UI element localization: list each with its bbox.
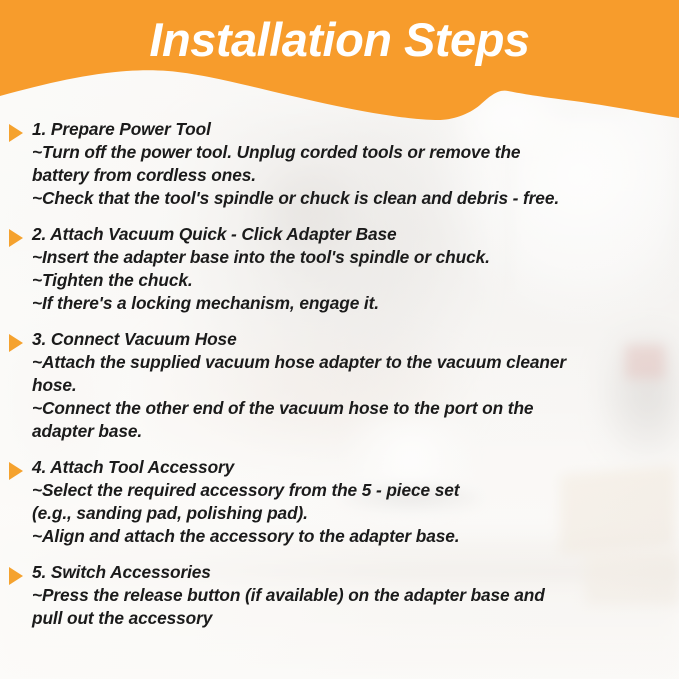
step-body: ~Attach the supplied vacuum hose adapter… [32,351,665,443]
step-title: 2. Attach Vacuum Quick - Click Adapter B… [32,223,665,246]
step-item-5: 5. Switch Accessories ~Press the release… [0,561,679,630]
step-line: ~Tighten the chuck. [32,269,665,292]
step-line: ~Select the required accessory from the … [32,479,665,525]
step-line: ~Connect the other end of the vacuum hos… [32,397,665,443]
step-title: 1. Prepare Power Tool [32,118,665,141]
triangle-right-icon [9,567,23,585]
step-line: ~Insert the adapter base into the tool's… [32,246,665,269]
triangle-right-icon [9,334,23,352]
step-item-1: 1. Prepare Power Tool ~Turn off the powe… [0,118,679,210]
step-title: 3. Connect Vacuum Hose [32,328,665,351]
step-title: 5. Switch Accessories [32,561,665,584]
step-line: ~Check that the tool's spindle or chuck … [32,187,665,210]
triangle-right-icon [9,124,23,142]
step-item-3: 3. Connect Vacuum Hose ~Attach the suppl… [0,328,679,443]
triangle-right-icon [9,462,23,480]
step-body: ~Turn off the power tool. Unplug corded … [32,141,665,210]
step-title: 4. Attach Tool Accessory [32,456,665,479]
step-body: ~Select the required accessory from the … [32,479,665,548]
step-body: ~Press the release button (if available)… [32,584,665,630]
step-item-4: 4. Attach Tool Accessory ~Select the req… [0,456,679,548]
triangle-right-icon [9,229,23,247]
step-line: ~Align and attach the accessory to the a… [32,525,665,548]
step-line: ~If there's a locking mechanism, engage … [32,292,665,315]
steps-list: 1. Prepare Power Tool ~Turn off the powe… [0,118,679,643]
header-banner: Installation Steps [0,0,679,135]
installation-steps-poster: Installation Steps 1. Prepare Power Tool… [0,0,679,679]
step-item-2: 2. Attach Vacuum Quick - Click Adapter B… [0,223,679,315]
step-line: ~Attach the supplied vacuum hose adapter… [32,351,665,397]
step-line: ~Press the release button (if available)… [32,584,665,630]
step-line: ~Turn off the power tool. Unplug corded … [32,141,665,187]
page-title: Installation Steps [0,14,679,66]
step-body: ~Insert the adapter base into the tool's… [32,246,665,315]
